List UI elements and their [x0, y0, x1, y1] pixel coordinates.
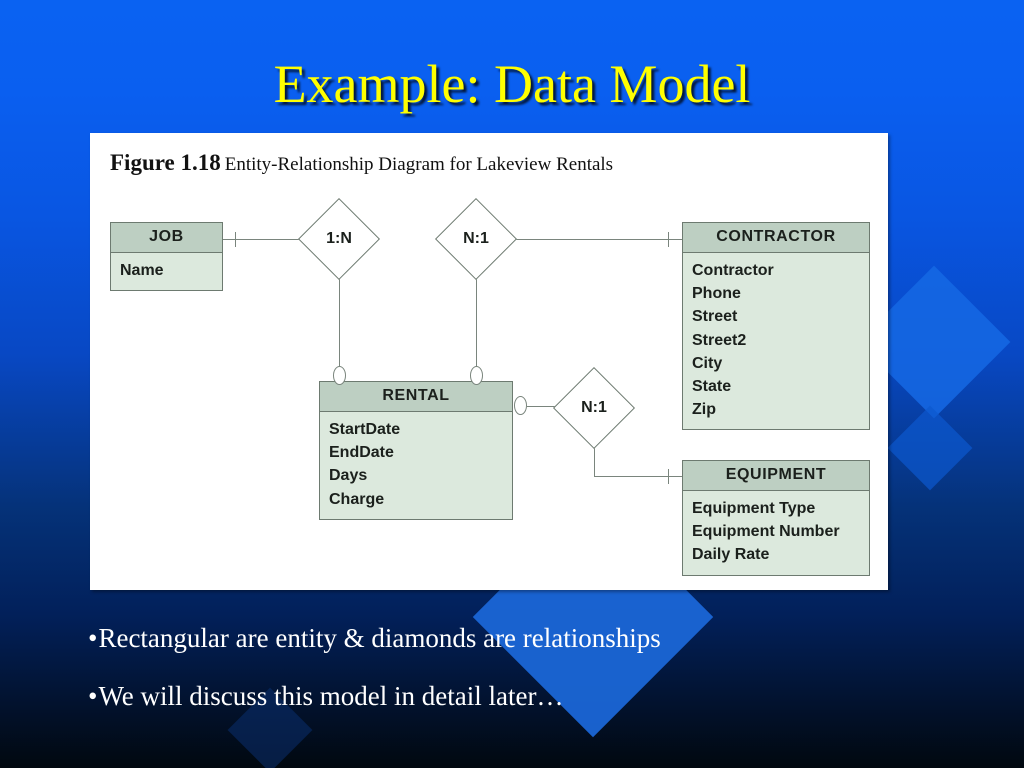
relationship-diamond-rental-contractor[interactable]: N:1 — [439, 202, 513, 276]
attribute: Days — [329, 464, 503, 487]
relationship-label: N:1 — [557, 371, 631, 445]
decorative-diamond-right-small — [888, 406, 973, 491]
bullet-marker: • — [88, 681, 97, 711]
cardinality-one-tick-job — [235, 232, 236, 247]
attribute: Phone — [692, 282, 860, 305]
bullet-item: •We will discuss this model in detail la… — [88, 680, 948, 712]
cardinality-many-oval-rental-right — [514, 396, 527, 415]
entity-job[interactable]: JOB Name — [110, 222, 223, 291]
bullet-marker: • — [88, 623, 97, 653]
attribute: Equipment Number — [692, 520, 860, 543]
attribute: Equipment Type — [692, 497, 860, 520]
entity-equipment[interactable]: EQUIPMENT Equipment Type Equipment Numbe… — [682, 460, 870, 576]
attribute: EndDate — [329, 441, 503, 464]
relationship-label: N:1 — [439, 202, 513, 276]
entity-contractor[interactable]: CONTRACTOR Contractor Phone Street Stree… — [682, 222, 870, 430]
attribute: StartDate — [329, 418, 503, 441]
slide-title: Example: Data Model — [0, 56, 1024, 113]
entity-job-attributes: Name — [111, 253, 222, 290]
entity-contractor-title: CONTRACTOR — [683, 223, 869, 253]
bullet-item: •Rectangular are entity & diamonds are r… — [88, 622, 948, 654]
attribute: State — [692, 375, 860, 398]
connector-rel2-to-contractor — [510, 239, 682, 240]
entity-equipment-attributes: Equipment Type Equipment Number Daily Ra… — [683, 491, 869, 575]
attribute: Charge — [329, 488, 503, 511]
entity-rental[interactable]: RENTAL StartDate EndDate Days Charge — [319, 381, 513, 520]
bullet-text: Rectangular are entity & diamonds are re… — [98, 623, 660, 653]
entity-rental-attributes: StartDate EndDate Days Charge — [320, 412, 512, 519]
er-diagram: JOB Name RENTAL StartDate EndDate Days C… — [90, 133, 888, 590]
cardinality-many-oval-rental-top — [470, 366, 483, 385]
attribute: Street — [692, 305, 860, 328]
bullet-list: •Rectangular are entity & diamonds are r… — [88, 622, 948, 739]
bullet-text: We will discuss this model in detail lat… — [98, 681, 563, 711]
entity-job-title: JOB — [111, 223, 222, 253]
relationship-diamond-job-rental[interactable]: 1:N — [302, 202, 376, 276]
entity-contractor-attributes: Contractor Phone Street Street2 City Sta… — [683, 253, 869, 429]
cardinality-one-tick-contractor — [668, 232, 669, 247]
cardinality-one-tick-equipment — [668, 469, 669, 484]
relationship-diamond-rental-equipment[interactable]: N:1 — [557, 371, 631, 445]
relationship-label: 1:N — [302, 202, 376, 276]
entity-rental-title: RENTAL — [320, 382, 512, 412]
attribute: Name — [120, 259, 213, 282]
attribute: Daily Rate — [692, 543, 860, 566]
attribute: Zip — [692, 398, 860, 421]
attribute: Contractor — [692, 259, 860, 282]
cardinality-many-oval-rental-left — [333, 366, 346, 385]
slide-canvas: Example: Data Model Figure 1.18 Entity-R… — [0, 0, 1024, 768]
entity-equipment-title: EQUIPMENT — [683, 461, 869, 491]
attribute: City — [692, 352, 860, 375]
attribute: Street2 — [692, 329, 860, 352]
figure-panel: Figure 1.18 Entity-Relationship Diagram … — [90, 133, 888, 590]
